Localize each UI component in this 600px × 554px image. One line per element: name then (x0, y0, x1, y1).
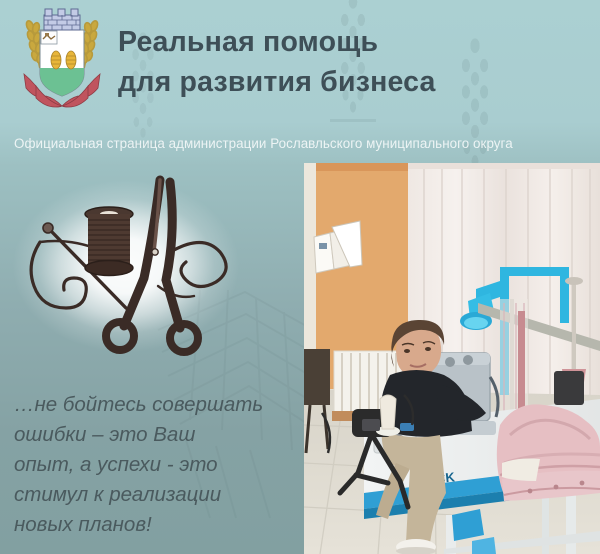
quote-line: …не бойтесь совершать (14, 390, 298, 420)
subtitle-bar: Официальная страница администрации Росла… (0, 133, 600, 157)
quote-line: новых планов! (14, 510, 298, 540)
sewing-workshop-photo: JACK (304, 163, 600, 554)
poster: Реальная помощь для развития бизнеса Офи… (0, 0, 600, 554)
quote-line: стимул к реализации (14, 480, 298, 510)
quote-text: …не бойтесь совершать ошибки – это Ваш о… (14, 390, 298, 540)
title-line-1: Реальная помощь (118, 22, 588, 62)
quote-line: ошибки – это Ваш (14, 420, 298, 450)
title-block: Реальная помощь для развития бизнеса (118, 22, 588, 102)
quote-line: опыт, а успехи - это (14, 450, 298, 480)
subtitle-text: Официальная страница администрации Росла… (14, 133, 513, 155)
title-line-2: для развития бизнеса (118, 62, 588, 102)
coat-of-arms-icon (14, 6, 110, 122)
sewing-logo-icon (8, 168, 244, 364)
header: Реальная помощь для развития бизнеса (0, 0, 600, 128)
